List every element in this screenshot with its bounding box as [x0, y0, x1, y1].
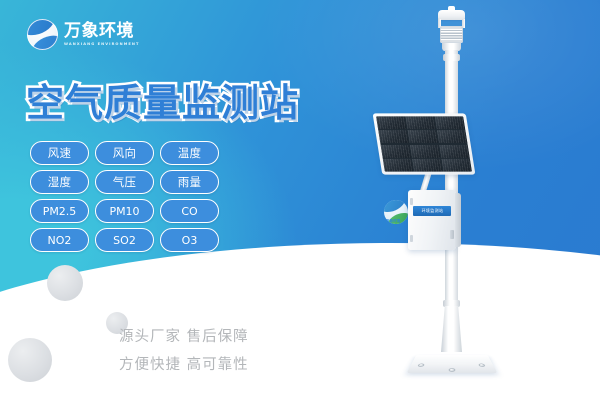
feature-tag[interactable]: 雨量: [160, 170, 219, 194]
cabinet-label-text: 环境监测站: [421, 208, 443, 214]
control-cabinet-icon: 环境监测站: [408, 190, 456, 250]
feature-tag[interactable]: CO: [160, 199, 219, 223]
cabinet-label: 环境监测站: [413, 206, 451, 216]
feature-tag[interactable]: 温度: [160, 141, 219, 165]
feature-tag[interactable]: SO2: [95, 228, 154, 252]
decorative-circle: [8, 338, 52, 382]
feature-tag[interactable]: 风向: [95, 141, 154, 165]
page-title: 空气质量监测站: [26, 72, 299, 127]
pole-collar: [443, 300, 460, 307]
product-photo: 万象环境 环境监测站: [380, 0, 600, 400]
feature-tag[interactable]: 气压: [95, 170, 154, 194]
poster-canvas: 万象环境 WANXIANG ENVIRONMENT 空气质量监测站 风速 风向 …: [0, 0, 600, 400]
base-plate-icon: [407, 355, 498, 373]
pole-collar: [443, 54, 460, 61]
feature-tag[interactable]: PM2.5: [30, 199, 89, 223]
tagline-block: 源头厂家 售后保障 方便快捷 高可靠性: [119, 325, 249, 374]
solar-panel-icon: [373, 113, 476, 174]
feature-tag[interactable]: 风速: [30, 141, 89, 165]
tagline-line-2: 方便快捷 高可靠性: [119, 353, 249, 374]
brand-name-en: WANXIANG ENVIRONMENT: [64, 43, 140, 47]
brand-logo-text: 万象环境 WANXIANG ENVIRONMENT: [64, 23, 140, 47]
ultrasonic-weather-sensor-icon: [433, 10, 470, 58]
tagline-line-1: 源头厂家 售后保障: [119, 325, 249, 346]
brand-sticker-label: 万象环境: [386, 218, 400, 223]
brand-name-cn: 万象环境: [64, 23, 140, 40]
feature-tag-grid: 风速 风向 温度 湿度 气压 雨量 PM2.5 PM10 CO NO2 SO2 …: [30, 141, 219, 252]
brand-logo[interactable]: 万象环境 WANXIANG ENVIRONMENT: [27, 19, 140, 50]
brand-sticker-icon: 万象环境: [384, 200, 408, 224]
feature-tag[interactable]: O3: [160, 228, 219, 252]
cabinet-latch: [450, 230, 454, 239]
globe-swoosh-icon: [27, 19, 58, 50]
decorative-circle: [47, 265, 83, 301]
feature-tag[interactable]: PM10: [95, 199, 154, 223]
feature-tag[interactable]: 湿度: [30, 170, 89, 194]
feature-tag[interactable]: NO2: [30, 228, 89, 252]
